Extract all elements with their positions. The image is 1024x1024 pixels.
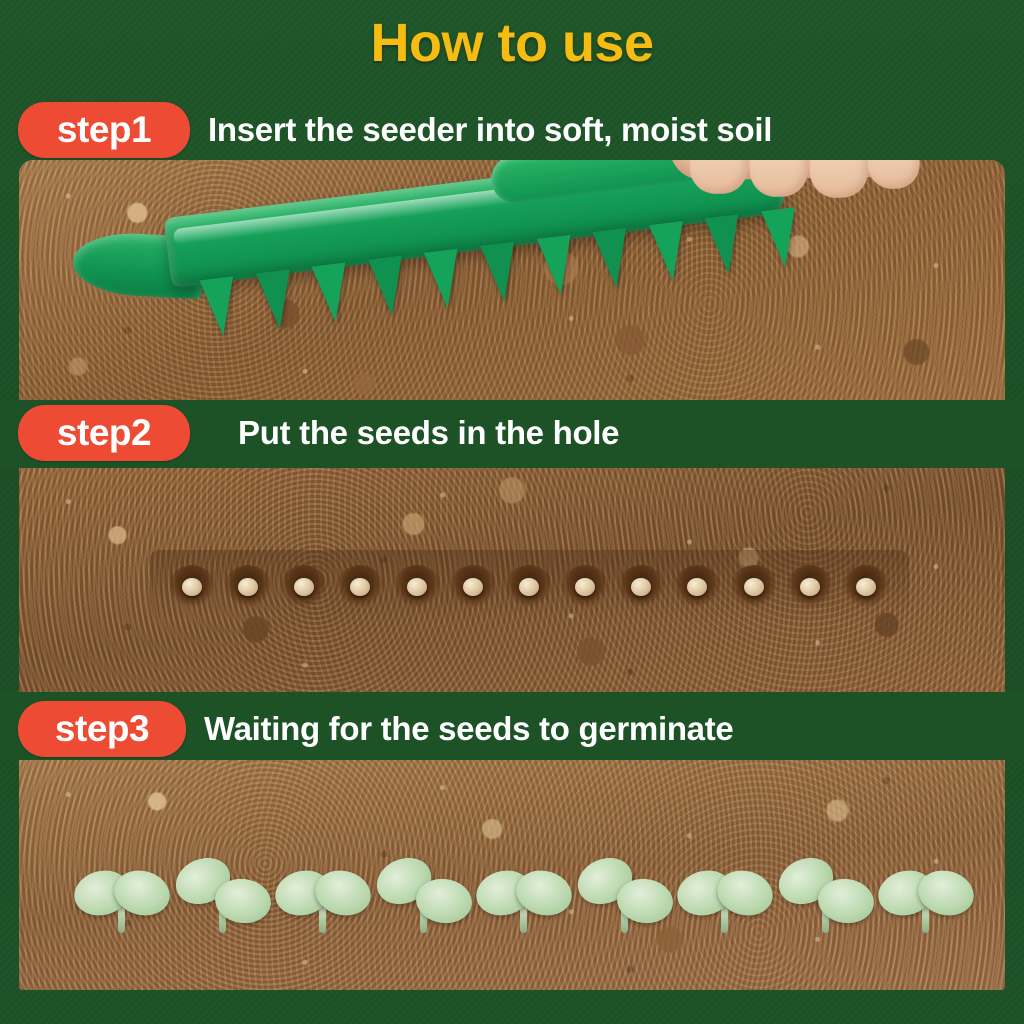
finger bbox=[867, 160, 920, 189]
step3-text: Waiting for the seeds to germinate bbox=[204, 710, 1024, 748]
seed bbox=[463, 578, 483, 596]
step1-header: step1 Insert the seeder into soft, moist… bbox=[0, 101, 1024, 159]
stem bbox=[319, 907, 326, 933]
spike bbox=[199, 276, 240, 338]
seed-hole bbox=[225, 565, 271, 607]
how-to-use-poster: How to use bbox=[0, 0, 1024, 1024]
stem bbox=[520, 907, 527, 933]
finger bbox=[809, 160, 868, 198]
seed bbox=[687, 578, 707, 596]
step1-badge: step1 bbox=[18, 102, 190, 158]
seed bbox=[800, 578, 820, 596]
spike bbox=[312, 262, 353, 324]
stem bbox=[118, 907, 125, 933]
hand bbox=[628, 160, 930, 209]
seed-hole bbox=[450, 565, 496, 607]
seed-hole bbox=[843, 565, 889, 607]
step2-text: Put the seeds in the hole bbox=[238, 414, 1024, 452]
seed-hole bbox=[674, 565, 720, 607]
seed bbox=[575, 578, 595, 596]
seed-hole-row bbox=[169, 564, 889, 608]
stem bbox=[922, 907, 929, 933]
spike bbox=[761, 207, 802, 269]
step2-badge: step2 bbox=[18, 405, 190, 461]
seed bbox=[238, 578, 258, 596]
seedling bbox=[376, 845, 472, 941]
step3-badge: step3 bbox=[18, 701, 186, 757]
spike bbox=[705, 214, 746, 276]
seedling bbox=[577, 845, 673, 941]
spike bbox=[256, 269, 297, 331]
spike bbox=[593, 228, 634, 290]
spike bbox=[649, 221, 690, 283]
step2-photo bbox=[19, 468, 1005, 692]
seed bbox=[856, 578, 876, 596]
seed bbox=[350, 578, 370, 596]
seed bbox=[519, 578, 539, 596]
seed-hole bbox=[731, 565, 777, 607]
step3-photo bbox=[19, 760, 1005, 990]
seedling bbox=[878, 845, 974, 941]
seed bbox=[631, 578, 651, 596]
seed-hole bbox=[337, 565, 383, 607]
seedling bbox=[175, 845, 271, 941]
spike bbox=[480, 242, 521, 304]
spike bbox=[536, 235, 577, 297]
seed-hole bbox=[787, 565, 833, 607]
seed-hole bbox=[169, 565, 215, 607]
seedling bbox=[778, 845, 874, 941]
seed-hole bbox=[281, 565, 327, 607]
seed bbox=[744, 578, 764, 596]
page-title: How to use bbox=[0, 14, 1024, 72]
spike bbox=[424, 249, 465, 311]
seedling bbox=[476, 845, 572, 941]
seedling bbox=[74, 845, 170, 941]
seedling-row bbox=[74, 838, 974, 948]
step1-text: Insert the seeder into soft, moist soil bbox=[208, 111, 1024, 149]
stem bbox=[721, 907, 728, 933]
seed-hole bbox=[562, 565, 608, 607]
seed bbox=[407, 578, 427, 596]
finger bbox=[749, 160, 808, 197]
finger bbox=[689, 160, 748, 194]
seed-hole bbox=[506, 565, 552, 607]
step1-photo bbox=[19, 160, 1005, 400]
seed-hole bbox=[618, 565, 664, 607]
seed-hole bbox=[394, 565, 440, 607]
seedling bbox=[677, 845, 773, 941]
spike bbox=[368, 256, 409, 318]
seed bbox=[182, 578, 202, 596]
seedling bbox=[275, 845, 371, 941]
seed bbox=[294, 578, 314, 596]
